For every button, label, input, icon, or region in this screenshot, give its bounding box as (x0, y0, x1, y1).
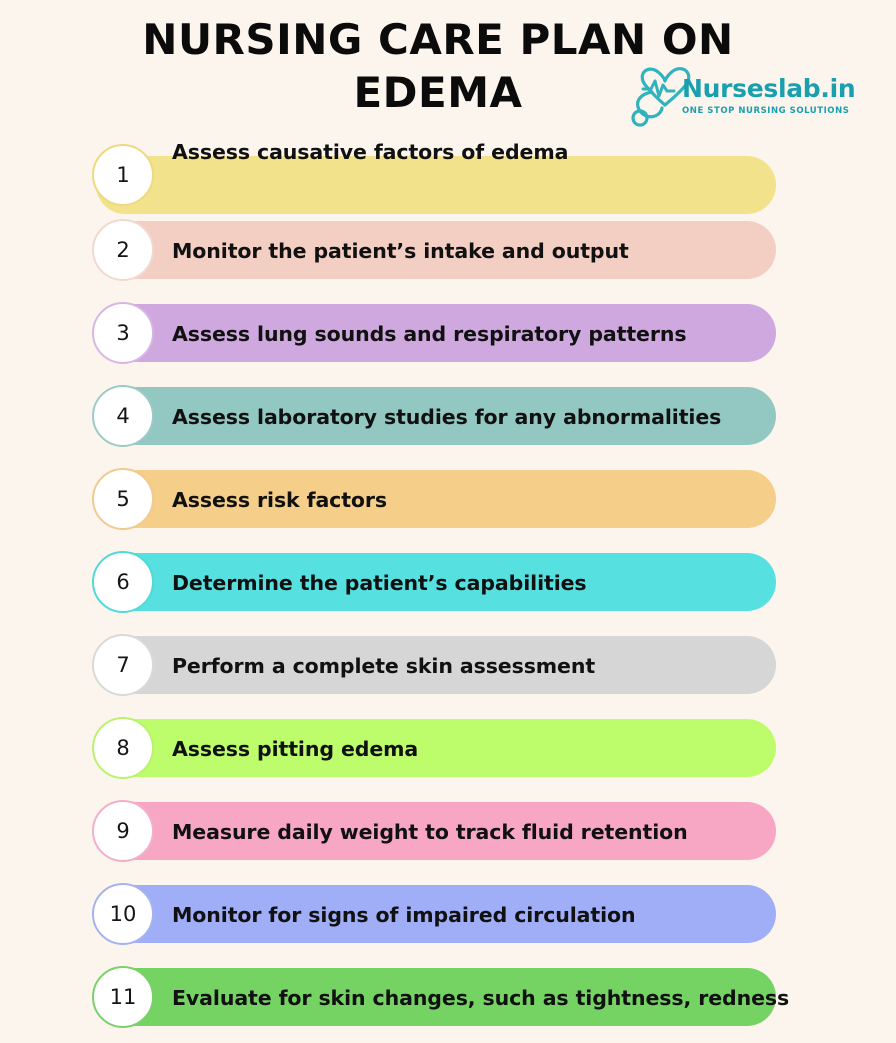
list-item-label: Monitor for signs of impaired circulatio… (172, 903, 768, 927)
list-item[interactable]: 9Measure daily weight to track fluid ret… (0, 794, 896, 877)
list-item[interactable]: 8Assess pitting edema (0, 711, 896, 794)
list-item[interactable]: 11Evaluate for skin changes, such as tig… (0, 960, 896, 1043)
list-item-number-badge: 2 (92, 219, 154, 281)
brand-logo-text: Nurseslab.in ONE STOP NURSING SOLUTIONS (682, 76, 852, 116)
list-item-label: Perform a complete skin assessment (172, 654, 768, 678)
list-item[interactable]: 1Assess causative factors of edema (0, 130, 896, 213)
list-item-label: Assess laboratory studies for any abnorm… (172, 405, 768, 429)
list-item-number-badge: 5 (92, 468, 154, 530)
list-item-label: Monitor the patient’s intake and output (172, 239, 768, 263)
page-title-line-1: NURSING CARE PLAN ON (100, 14, 776, 67)
list-item[interactable]: 4Assess laboratory studies for any abnor… (0, 379, 896, 462)
brand-name: Nurseslab.in (682, 76, 852, 101)
list-item[interactable]: 5Assess risk factors (0, 462, 896, 545)
list-item-label: Measure daily weight to track fluid rete… (172, 820, 768, 844)
list-item-number-badge: 9 (92, 800, 154, 862)
list-item-number-badge: 11 (92, 966, 154, 1028)
list-item[interactable]: 3Assess lung sounds and respiratory patt… (0, 296, 896, 379)
list-item[interactable]: 6Determine the patient’s capabilities (0, 545, 896, 628)
list-item-label: Assess lung sounds and respiratory patte… (172, 322, 768, 346)
list-item-label: Determine the patient’s capabilities (172, 571, 768, 595)
list-item-bar (96, 156, 776, 214)
infographic-header: NURSING CARE PLAN ON EDEMA Nurseslab.in … (0, 0, 896, 136)
list-item-label: Assess pitting edema (172, 737, 768, 761)
list-item-label: Assess risk factors (172, 488, 768, 512)
list-item-label: Assess causative factors of edema (172, 140, 768, 164)
list-item-number-badge: 3 (92, 302, 154, 364)
list-item-number-badge: 4 (92, 385, 154, 447)
care-plan-list: 1Assess causative factors of edema2Monit… (0, 130, 896, 1043)
list-item[interactable]: 10Monitor for signs of impaired circulat… (0, 877, 896, 960)
list-item-number-badge: 1 (92, 144, 154, 206)
brand-logo: Nurseslab.in ONE STOP NURSING SOLUTIONS (626, 62, 848, 134)
list-item-label: Evaluate for skin changes, such as tight… (172, 986, 768, 1010)
list-item-number-badge: 6 (92, 551, 154, 613)
list-item[interactable]: 2Monitor the patient’s intake and output (0, 213, 896, 296)
list-item[interactable]: 7Perform a complete skin assessment (0, 628, 896, 711)
list-item-number-badge: 7 (92, 634, 154, 696)
list-item-number-badge: 8 (92, 717, 154, 779)
list-item-number-badge: 10 (92, 883, 154, 945)
brand-tagline: ONE STOP NURSING SOLUTIONS (682, 106, 852, 116)
